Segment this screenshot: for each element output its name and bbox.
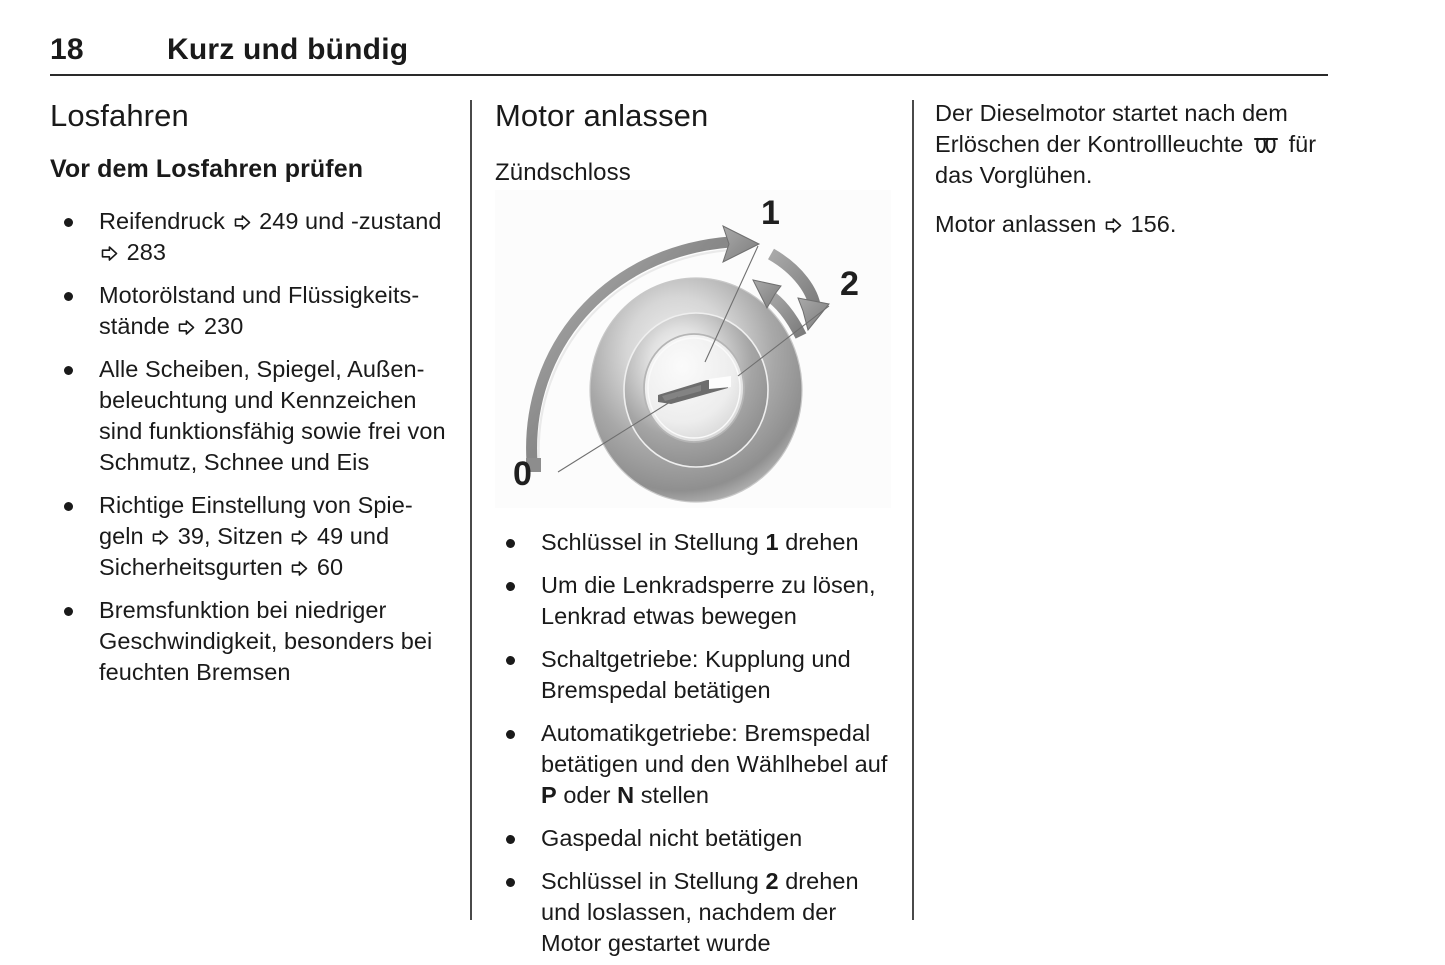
right-text-line2a: Erlöschen der Kontrollleuchte [935, 131, 1250, 157]
list-item: Bremsfunktion bei niedriger Geschwindigk… [50, 595, 450, 688]
bullet-text-3c: sind funktionsfähig sowie frei von [99, 418, 446, 444]
bullet-dot-icon [64, 366, 73, 375]
step-emphasis-p: P [541, 782, 557, 808]
column-left: Losfahren Vor dem Losfahren prüfen Reife… [50, 98, 450, 688]
bullet-dot-icon [64, 607, 73, 616]
right-text-line1: Der Dieselmotor startet nach dem [935, 100, 1288, 126]
bullet-dot-icon [506, 582, 515, 591]
step-text-4b: betätigen und den Wählhebel auf [541, 751, 888, 777]
list-item: Gaspedal nicht betätigen [495, 823, 895, 854]
step-text-2b: Lenkrad etwas bewegen [541, 603, 797, 629]
page-header: 18 Kurz und bündig [50, 30, 1328, 76]
step-text-3b: Bremspedal betätigen [541, 677, 771, 703]
bullet-text-2a: Motorölstand und Flüssigkeits- [99, 282, 419, 308]
bullet-dot-icon [506, 835, 515, 844]
bullet-text-1b: 249 und -zustand [253, 208, 442, 234]
page-reference-arrow-icon [178, 319, 195, 336]
list-item: Motorölstand und Flüssigkeits- stände 23… [50, 280, 450, 342]
step-emphasis-1: 1 [765, 529, 778, 555]
checklist-motor-anlassen: Schlüssel in Stellung 1 drehen Um die Le… [495, 527, 895, 959]
list-item: Schaltgetriebe: Kupplung und Bremspedal … [495, 644, 895, 706]
step-text-4a: Automatikgetriebe: Bremspedal [541, 720, 870, 746]
step-emphasis-2: 2 [765, 868, 778, 894]
bullet-text-3a: Alle Scheiben, Spiegel, Außen- [99, 356, 425, 382]
bullet-text-1c: 283 [120, 239, 166, 265]
column-right: Der Dieselmotor startet nach dem Erlösch… [935, 98, 1330, 240]
list-item: Automatikgetriebe: Bremspedal betätigen … [495, 718, 895, 811]
column-middle-steps: Schlüssel in Stellung 1 drehen Um die Le… [495, 527, 895, 959]
step-text-2a: Um die Lenkradsperre zu lösen, [541, 572, 876, 598]
list-item: Reifendruck 249 und -zustand 283 [50, 206, 450, 268]
bullet-dot-icon [506, 878, 515, 887]
step-text-1b: drehen [779, 529, 859, 555]
bullet-text-5b: Geschwindigkeit, besonders bei [99, 628, 432, 654]
bullet-text-4a: Richtige Einstellung von Spie- [99, 492, 413, 518]
step-text-3a: Schaltgetriebe: Kupplung und [541, 646, 851, 672]
bullet-dot-icon [506, 656, 515, 665]
list-item: Schlüssel in Stellung 2 drehen und losla… [495, 866, 895, 959]
bullet-dot-icon [64, 502, 73, 511]
bullet-dot-icon [506, 539, 515, 548]
bullet-text-2b: stände [99, 313, 176, 339]
step-text-4c: oder [557, 782, 617, 808]
bullet-text-4f: 60 [310, 554, 343, 580]
list-item: Alle Scheiben, Spiegel, Außen- beleuchtu… [50, 354, 450, 478]
page-reference-arrow-icon [234, 214, 251, 231]
section-heading-motor-anlassen: Motor anlassen [495, 98, 895, 134]
right-ref-text-b: 156. [1124, 211, 1177, 237]
step-text-4d: stellen [634, 782, 709, 808]
page-reference-arrow-icon [152, 529, 169, 546]
section-heading-losfahren: Losfahren [50, 98, 450, 134]
label-position-0: 0 [513, 455, 532, 493]
bullet-text-3b: beleuchtung und Kennzeichen [99, 387, 417, 413]
bullet-text-4b: geln [99, 523, 150, 549]
bullet-text-5a: Bremsfunktion bei niedriger [99, 597, 386, 623]
list-item: Schlüssel in Stellung 1 drehen [495, 527, 895, 558]
page-number: 18 [50, 30, 84, 70]
subheading-zuendschloss: Zündschloss [495, 158, 895, 188]
label-position-1: 1 [761, 194, 780, 232]
label-position-2: 2 [840, 265, 859, 303]
step-text-5a: Gaspedal nicht betätigen [541, 825, 802, 851]
column-divider-left [470, 100, 472, 920]
right-text-line2b: für [1282, 131, 1316, 157]
bullet-dot-icon [64, 292, 73, 301]
step-text-6b: drehen [779, 868, 859, 894]
page-reference-arrow-icon [291, 529, 308, 546]
bullet-text-3d: Schmutz, Schnee und Eis [99, 449, 369, 475]
page-reference-arrow-icon [291, 560, 308, 577]
paragraph-motor-anlassen-ref: Motor anlassen 156. [935, 209, 1330, 240]
bullet-text-4e: Sicherheitsgurten [99, 554, 289, 580]
page-reference-arrow-icon [1105, 217, 1122, 234]
bullet-text-1a: Reifendruck [99, 208, 232, 234]
bullet-text-4c: 39, Sitzen [171, 523, 289, 549]
bullet-text-5c: feuchten Bremsen [99, 659, 291, 685]
right-text-line3: das Vorglühen. [935, 162, 1093, 188]
list-item: Um die Lenkradsperre zu lösen, Lenkrad e… [495, 570, 895, 632]
step-text-1a: Schlüssel in Stellung [541, 529, 765, 555]
bullet-dot-icon [64, 218, 73, 227]
bullet-text-4d: 49 und [310, 523, 389, 549]
paragraph-dieselmotor: Der Dieselmotor startet nach dem Erlösch… [935, 98, 1330, 191]
column-divider-right [912, 100, 914, 920]
bullet-dot-icon [506, 730, 515, 739]
list-item: Richtige Einstellung von Spie- geln 39, … [50, 490, 450, 583]
checklist-vor-dem-losfahren: Reifendruck 249 und -zustand 283 Motoröl… [50, 206, 450, 688]
page-title: Kurz und bündig [167, 30, 408, 70]
step-emphasis-n: N [617, 782, 634, 808]
step-text-6d: Motor gestartet wurde [541, 930, 771, 956]
subheading-vor-dem-losfahren: Vor dem Losfahren prüfen [50, 154, 450, 184]
page-reference-arrow-icon [101, 245, 118, 262]
ignition-lock-illustration: 0 1 2 [495, 190, 891, 508]
manual-page: 18 Kurz und bündig Losfahren Vor dem Los… [0, 0, 1445, 965]
glow-plug-indicator-icon [1253, 135, 1279, 155]
step-text-6c: und loslassen, nachdem der [541, 899, 836, 925]
step-text-6a: Schlüssel in Stellung [541, 868, 765, 894]
right-ref-text-a: Motor anlassen [935, 211, 1103, 237]
bullet-text-2c: 230 [197, 313, 243, 339]
